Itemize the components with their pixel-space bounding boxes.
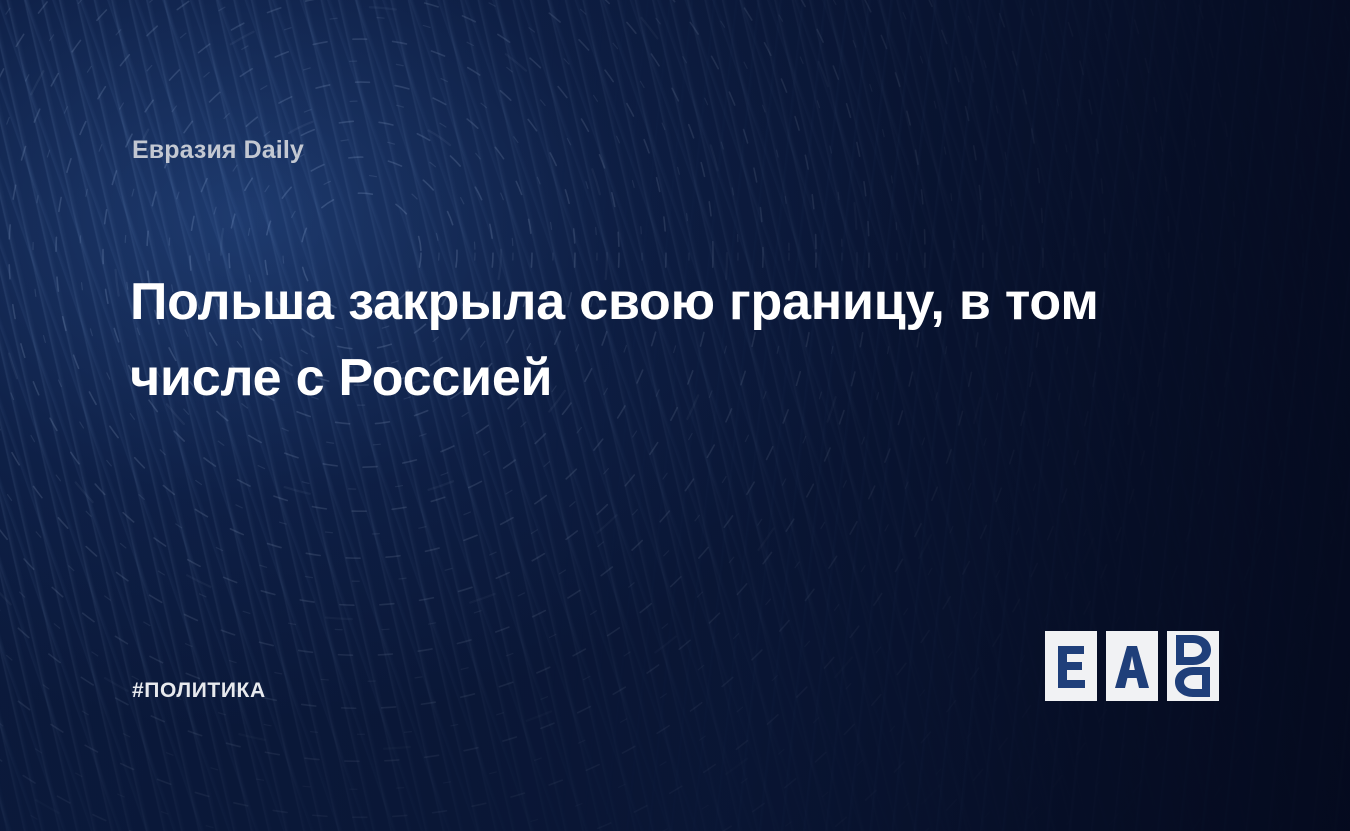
site-name: Евразия Daily	[132, 136, 304, 165]
logo-tile-e	[1045, 631, 1097, 701]
logo-tile-a	[1106, 631, 1158, 701]
letter-a-icon	[1114, 644, 1150, 688]
eadaily-logo	[1045, 631, 1219, 701]
letter-e-icon	[1055, 644, 1087, 688]
card-content: Евразия Daily Польша закрыла свою границ…	[0, 0, 1350, 831]
split-d-mark-icon	[1174, 635, 1212, 697]
category-hashtag: #ПОЛИТИКА	[132, 679, 266, 703]
article-headline: Польша закрыла свою границу, в том числе…	[130, 264, 1160, 416]
social-share-card: Евразия Daily Польша закрыла свою границ…	[0, 0, 1350, 831]
logo-tile-d	[1167, 631, 1219, 701]
